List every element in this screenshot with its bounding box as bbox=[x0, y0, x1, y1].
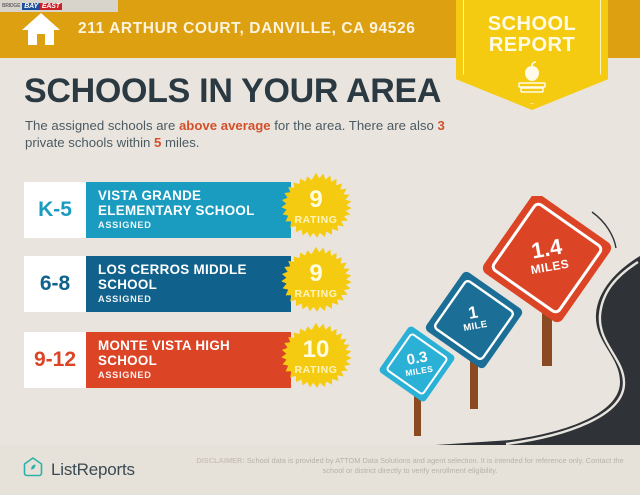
listreports-logo[interactable]: ListReports bbox=[22, 456, 135, 483]
school-name-bar: LOS CERROS MIDDLE SCHOOL ASSIGNED bbox=[86, 256, 291, 312]
rating-label: RATING bbox=[278, 288, 354, 300]
road-distance-illustration: 0.3 MILES 1 MILE 1.4 MILES bbox=[370, 196, 640, 448]
watermark-east: EAST bbox=[40, 3, 62, 10]
property-address: 211 ARTHUR COURT, DANVILLE, CA 94526 bbox=[78, 20, 415, 38]
school-name-bar: VISTA GRANDE ELEMENTARY SCHOOL ASSIGNED bbox=[86, 182, 291, 238]
rating-value: 9 bbox=[278, 188, 354, 212]
page-subtitle: The assigned schools are above average f… bbox=[25, 117, 455, 151]
school-name: MONTE VISTA HIGH SCHOOL bbox=[98, 338, 291, 368]
footer-bar: ListReports DISCLAIMER: School data is p… bbox=[0, 445, 640, 495]
school-rating-badge: 10 RATING bbox=[278, 322, 354, 398]
grade-range-box: K-5 bbox=[24, 182, 86, 238]
rating-label: RATING bbox=[278, 214, 354, 226]
subtitle-part4: miles. bbox=[161, 135, 199, 150]
school-name-bar: MONTE VISTA HIGH SCHOOL ASSIGNED bbox=[86, 332, 291, 388]
rating-value: 9 bbox=[278, 262, 354, 286]
subtitle-part3: private schools within bbox=[25, 135, 154, 150]
grade-range-label: K-5 bbox=[38, 198, 72, 222]
watermark-bay: BAY bbox=[22, 3, 40, 10]
grade-range-label: 6-8 bbox=[40, 272, 70, 296]
school-row[interactable]: 6-8 LOS CERROS MIDDLE SCHOOL ASSIGNED bbox=[24, 256, 291, 312]
subtitle-part1: The assigned schools are bbox=[25, 118, 179, 133]
subtitle-highlight-above-average: above average bbox=[179, 118, 271, 133]
home-icon bbox=[20, 11, 62, 47]
school-rating-badge: 9 RATING bbox=[278, 172, 354, 248]
page-title: SCHOOLS IN YOUR AREA bbox=[24, 72, 441, 111]
school-status: ASSIGNED bbox=[98, 370, 291, 380]
school-name: VISTA GRANDE ELEMENTARY SCHOOL bbox=[98, 188, 291, 218]
school-rating-badge: 9 RATING bbox=[278, 246, 354, 322]
rating-value: 10 bbox=[278, 338, 354, 362]
school-status: ASSIGNED bbox=[98, 220, 291, 230]
grade-range-label: 9-12 bbox=[34, 348, 76, 372]
rating-label: RATING bbox=[278, 364, 354, 376]
school-status: ASSIGNED bbox=[98, 294, 291, 304]
school-name: LOS CERROS MIDDLE SCHOOL bbox=[98, 262, 291, 292]
listreports-house-leaf-icon bbox=[22, 456, 44, 483]
badge-title: SCHOOL REPORT bbox=[456, 14, 608, 56]
grade-range-box: 9-12 bbox=[24, 332, 86, 388]
badge-title-line1: SCHOOL bbox=[456, 14, 608, 35]
apple-books-icon bbox=[456, 60, 608, 94]
mls-watermark: BRIDGE BAYEAST bbox=[0, 0, 118, 12]
school-report-infographic: BRIDGE BAYEAST 211 ARTHUR COURT, DANVILL… bbox=[0, 0, 640, 495]
grade-range-box: 6-8 bbox=[24, 256, 86, 312]
disclaimer-text: DISCLAIMER: School data is provided by A… bbox=[186, 456, 634, 476]
school-row[interactable]: 9-12 MONTE VISTA HIGH SCHOOL ASSIGNED bbox=[24, 332, 291, 388]
school-row[interactable]: K-5 VISTA GRANDE ELEMENTARY SCHOOL ASSIG… bbox=[24, 182, 291, 238]
school-report-badge: SCHOOL REPORT bbox=[456, 0, 608, 110]
disclaimer-body: School data is provided by ATTOM Data So… bbox=[245, 456, 624, 475]
subtitle-highlight-count: 3 bbox=[438, 118, 445, 133]
badge-title-line2: REPORT bbox=[456, 35, 608, 56]
listreports-brand-name: ListReports bbox=[51, 460, 135, 480]
watermark-prefix: BRIDGE bbox=[0, 3, 20, 9]
subtitle-part2: for the area. There are also bbox=[271, 118, 438, 133]
disclaimer-label: DISCLAIMER: bbox=[196, 456, 244, 465]
